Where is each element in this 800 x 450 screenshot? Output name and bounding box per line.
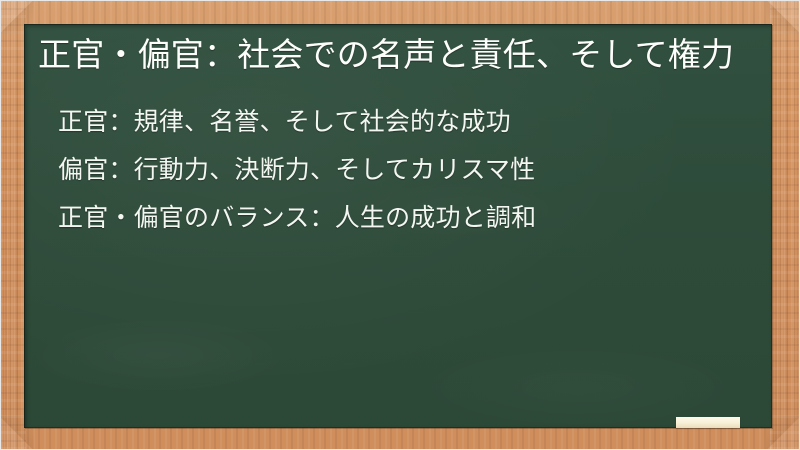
wooden-frame-left-rail	[0, 0, 26, 450]
bullet-item: 偏官：行動力、決断力、そしてカリスマ性	[58, 146, 762, 194]
bullet-list: 正官：規律、名誉、そして社会的な成功 偏官：行動力、決断力、そしてカリスマ性 正…	[38, 98, 762, 242]
wooden-frame-right-rail	[770, 0, 800, 450]
bullet-item: 正官：規律、名誉、そして社会的な成功	[58, 98, 762, 146]
chalkboard-slide: 正官・偏官：社会での名声と責任、そして権力 正官：規律、名誉、そして社会的な成功…	[0, 0, 800, 450]
board-content: 正官・偏官：社会での名声と責任、そして権力 正官：規律、名誉、そして社会的な成功…	[38, 24, 762, 242]
slide-title: 正官・偏官：社会での名声と責任、そして権力	[38, 24, 762, 76]
bullet-item: 正官・偏官のバランス：人生の成功と調和	[58, 194, 762, 242]
chalk-stick	[676, 417, 740, 428]
green-chalkboard: 正官・偏官：社会での名声と責任、そして権力 正官：規律、名誉、そして社会的な成功…	[24, 24, 772, 428]
